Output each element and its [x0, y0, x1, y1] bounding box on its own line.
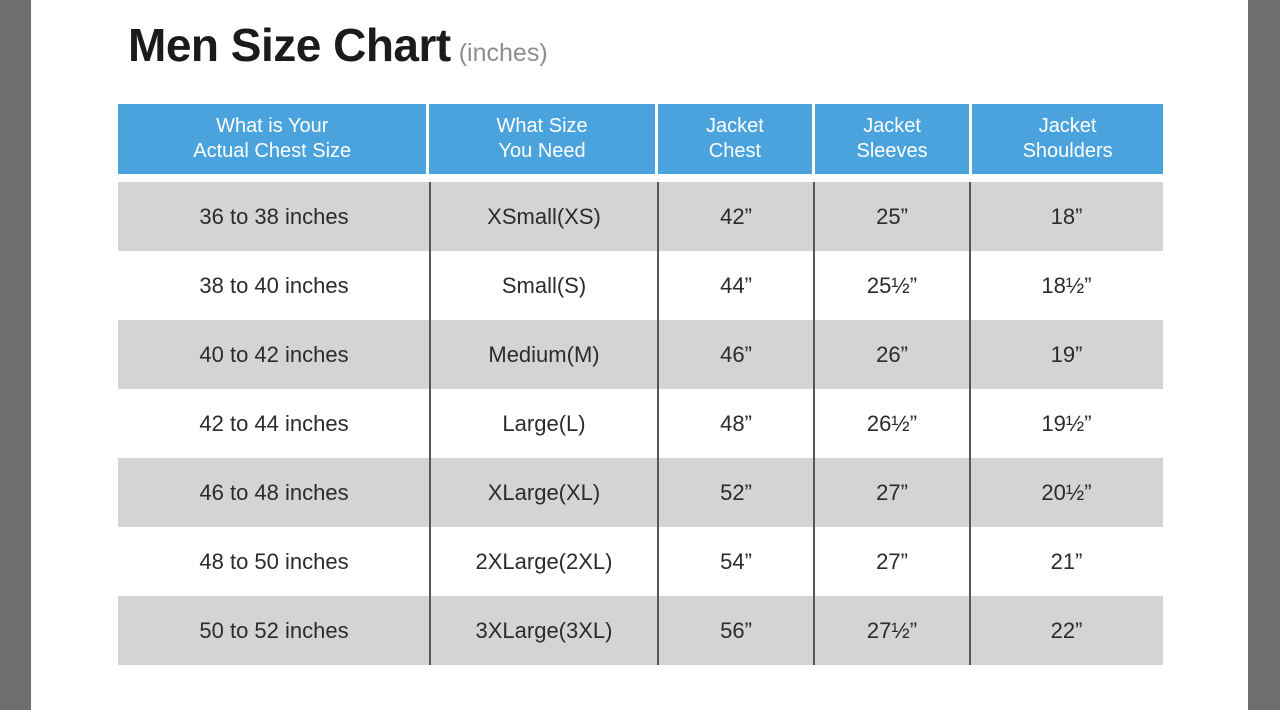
cell-jacket-sleeves: 27” — [814, 458, 970, 527]
cell-jacket-chest: 54” — [658, 527, 814, 596]
cell-jacket-shoulders: 18½” — [970, 251, 1163, 320]
size-chart-table: What is Your Actual Chest Size What Size… — [118, 104, 1163, 665]
letterbox-bar-left — [0, 0, 31, 710]
cell-jacket-chest: 56” — [658, 596, 814, 665]
letterbox-bar-right — [1248, 0, 1280, 710]
column-header-jacket-shoulders: Jacket Shoulders — [972, 104, 1163, 174]
column-header-line-2: Actual Chest Size — [193, 139, 351, 164]
cell-jacket-shoulders: 19” — [970, 320, 1163, 389]
column-header-jacket-sleeves: Jacket Sleeves — [815, 104, 969, 174]
table-row: 50 to 52 inches 3XLarge(3XL) 56” 27½” 22… — [118, 596, 1163, 665]
cell-jacket-shoulders: 18” — [970, 182, 1163, 251]
cell-size-needed: Medium(M) — [430, 320, 658, 389]
screenshot-root: Men Size Chart(inches) What is Your Actu… — [0, 0, 1280, 710]
cell-chest-size: 48 to 50 inches — [118, 527, 430, 596]
page-title: Men Size Chart(inches) — [128, 18, 548, 72]
table-row: 42 to 44 inches Large(L) 48” 26½” 19½” — [118, 389, 1163, 458]
column-header-line-1: Jacket — [863, 114, 921, 139]
column-header-line-1: Jacket — [706, 114, 764, 139]
chart-page: Men Size Chart(inches) What is Your Actu… — [31, 0, 1248, 710]
cell-jacket-chest: 52” — [658, 458, 814, 527]
cell-jacket-sleeves: 27” — [814, 527, 970, 596]
cell-chest-size: 38 to 40 inches — [118, 251, 430, 320]
column-header-line-1: What Size — [497, 114, 588, 139]
column-header-jacket-chest: Jacket Chest — [658, 104, 812, 174]
cell-chest-size: 36 to 38 inches — [118, 182, 430, 251]
cell-size-needed: 3XLarge(3XL) — [430, 596, 658, 665]
cell-jacket-shoulders: 19½” — [970, 389, 1163, 458]
table-row: 38 to 40 inches Small(S) 44” 25½” 18½” — [118, 251, 1163, 320]
column-header-size-needed: What Size You Need — [429, 104, 654, 174]
cell-jacket-shoulders: 22” — [970, 596, 1163, 665]
cell-jacket-chest: 44” — [658, 251, 814, 320]
cell-chest-size: 42 to 44 inches — [118, 389, 430, 458]
cell-chest-size: 46 to 48 inches — [118, 458, 430, 527]
cell-jacket-sleeves: 25” — [814, 182, 970, 251]
cell-chest-size: 50 to 52 inches — [118, 596, 430, 665]
cell-size-needed: Small(S) — [430, 251, 658, 320]
column-header-line-2: You Need — [499, 139, 586, 164]
table-body: 36 to 38 inches XSmall(XS) 42” 25” 18” 3… — [118, 182, 1163, 665]
cell-jacket-sleeves: 26½” — [814, 389, 970, 458]
cell-jacket-sleeves: 27½” — [814, 596, 970, 665]
cell-jacket-chest: 42” — [658, 182, 814, 251]
table-row: 36 to 38 inches XSmall(XS) 42” 25” 18” — [118, 182, 1163, 251]
cell-jacket-shoulders: 20½” — [970, 458, 1163, 527]
cell-jacket-chest: 48” — [658, 389, 814, 458]
cell-jacket-sleeves: 26” — [814, 320, 970, 389]
table-row: 48 to 50 inches 2XLarge(2XL) 54” 27” 21” — [118, 527, 1163, 596]
column-header-line-1: What is Your — [216, 114, 328, 139]
column-header-line-2: Sleeves — [857, 139, 928, 164]
column-header-line-2: Chest — [709, 139, 761, 164]
page-title-main: Men Size Chart — [128, 19, 451, 71]
cell-jacket-shoulders: 21” — [970, 527, 1163, 596]
column-header-line-2: Shoulders — [1023, 139, 1113, 164]
cell-chest-size: 40 to 42 inches — [118, 320, 430, 389]
cell-size-needed: Large(L) — [430, 389, 658, 458]
cell-size-needed: 2XLarge(2XL) — [430, 527, 658, 596]
cell-jacket-sleeves: 25½” — [814, 251, 970, 320]
cell-jacket-chest: 46” — [658, 320, 814, 389]
table-header-row: What is Your Actual Chest Size What Size… — [118, 104, 1163, 174]
table-row: 40 to 42 inches Medium(M) 46” 26” 19” — [118, 320, 1163, 389]
cell-size-needed: XSmall(XS) — [430, 182, 658, 251]
page-title-unit: (inches) — [459, 39, 548, 67]
table-row: 46 to 48 inches XLarge(XL) 52” 27” 20½” — [118, 458, 1163, 527]
column-header-line-1: Jacket — [1039, 114, 1097, 139]
cell-size-needed: XLarge(XL) — [430, 458, 658, 527]
column-header-chest-size: What is Your Actual Chest Size — [118, 104, 426, 174]
